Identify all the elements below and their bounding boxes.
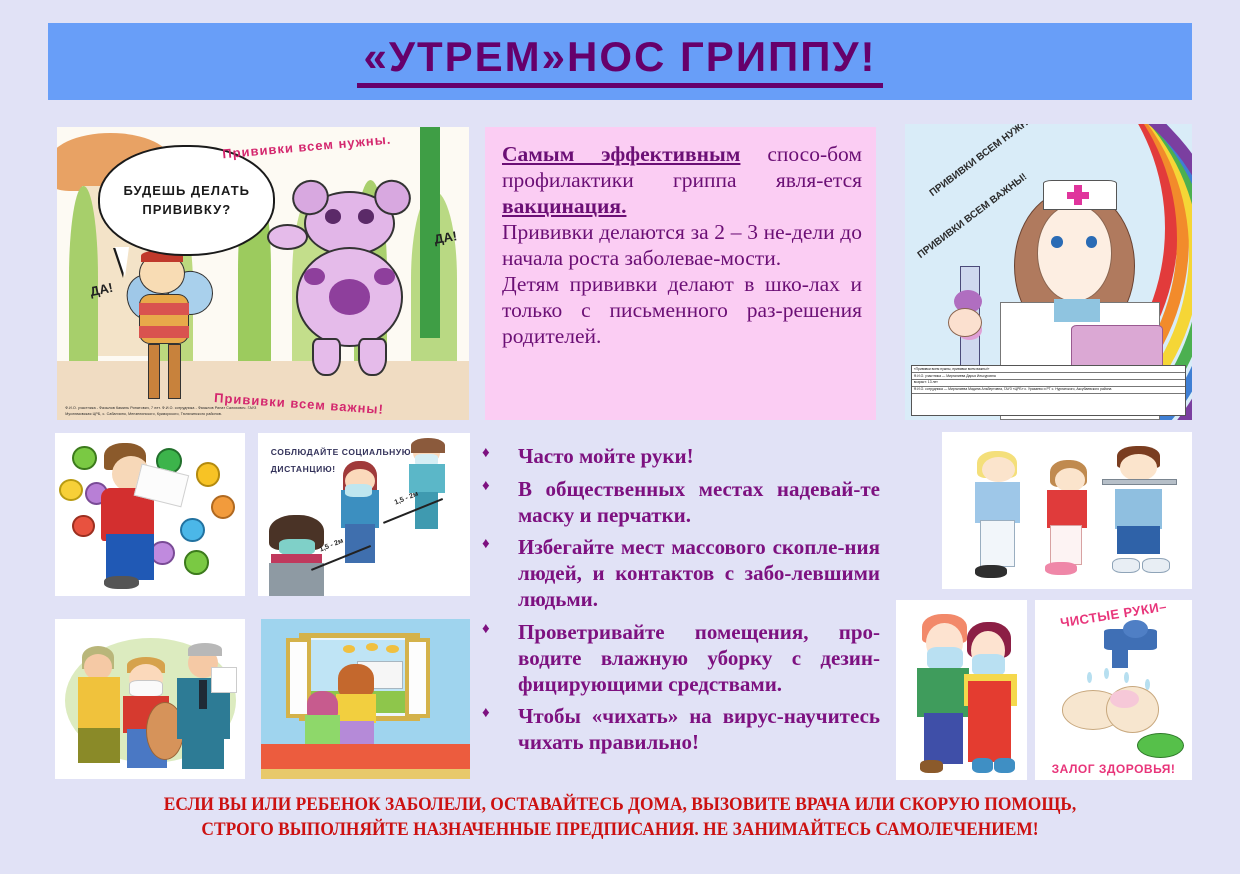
virus-icon: [211, 495, 236, 519]
face-mask: [129, 680, 163, 698]
virus-icon: [184, 550, 209, 574]
girl-shoe: [994, 758, 1015, 772]
drawing-info-table: «Прививки всем нужны, прививки всем важн…: [911, 365, 1187, 415]
vaccination-bold-2: вакцинация.: [502, 194, 626, 218]
bee-stripe: [139, 303, 188, 315]
vaccination-paragraph-3: Детям прививки делают в шко-лах и только…: [502, 271, 862, 349]
girl-tights: [980, 520, 1015, 567]
prevention-tips-list: Часто мойте руки! В общественных местах …: [476, 444, 880, 764]
man-shoe: [104, 576, 138, 589]
man-tie: [199, 680, 207, 709]
poster-root: «УТРЕМ»НОС ГРИППУ! БУДЕШЬ ДЕЛАТЬ ПРИВИВК…: [0, 0, 1240, 874]
info-row: Ф.И.О. участника — Миргалиева Дарья Ильс…: [912, 373, 1186, 380]
vaccination-paragraph-2: Прививки делаются за 2 – 3 не-дели до на…: [502, 219, 862, 271]
girl-shoe: [975, 565, 1008, 578]
boy-shirt: [1115, 489, 1163, 530]
tip-item: Часто мойте руки!: [476, 444, 880, 470]
girl-shoe: [972, 758, 993, 772]
bird-icon: [386, 645, 399, 653]
tip-item: В общественных местах надевай-те маску и…: [476, 477, 880, 529]
girl-leotard: [975, 482, 1020, 523]
man-hair: [188, 643, 222, 656]
children-masks-image: [896, 600, 1027, 780]
water-drop: [1087, 672, 1092, 683]
water-drop: [1104, 668, 1109, 679]
virus-icon: [72, 515, 95, 538]
water-drop: [1124, 672, 1129, 683]
clean-hands-bottom-text: ЗАЛОГ ЗДОРОВЬЯ!: [1035, 762, 1192, 776]
clean-hands-image: ЧИСТЫЕ РУКИ– ЗАЛОГ ЗДОРОВЬЯ!: [1035, 600, 1192, 780]
footer-line-1: ЕСЛИ ВЫ ИЛИ РЕБЕНОК ЗАБОЛЕЛИ, ОСТАВАЙТЕС…: [65, 793, 1174, 818]
bird-icon: [343, 645, 356, 653]
girl2-shoe: [1045, 562, 1078, 575]
woman-hair: [338, 664, 374, 696]
red-cross-horizontal: [1067, 192, 1089, 199]
tip-item: Избегайте мест массового скопле-ния люде…: [476, 535, 880, 612]
boy-sneaker: [1112, 558, 1140, 574]
boy-shirt: [917, 668, 969, 717]
title-banner: «УТРЕМ»НОС ГРИППУ!: [48, 23, 1192, 100]
bed-base: [261, 769, 470, 779]
coughing-family-image: [55, 619, 245, 779]
creature-eye: [358, 209, 374, 224]
creature-eye: [325, 209, 341, 224]
creature-belly-spot: [329, 279, 370, 314]
nurse-collar: [1054, 299, 1100, 323]
info-row: Ф.И.О. сотрудника — Миргалиева Мадина Ал…: [912, 387, 1186, 394]
girl2-tights: [1050, 525, 1083, 566]
woman-dress: [78, 677, 120, 731]
face-mask: [345, 484, 373, 497]
virus-icon: [72, 446, 97, 470]
girl2-face: [1055, 468, 1085, 492]
airing-room-image: [261, 619, 470, 779]
window-open-sash: [405, 638, 430, 718]
boy-shoe: [920, 760, 944, 773]
girl-face: [982, 457, 1015, 482]
creature-spot: [304, 268, 325, 286]
vaccination-text-box: Самым эффективным спосо-бом профилактики…: [485, 127, 876, 420]
tip-item: Проветривайте помещения, про-водите влаж…: [476, 620, 880, 697]
bird-icon: [366, 643, 379, 651]
woman-skirt: [78, 728, 120, 763]
boy-shorts: [1117, 526, 1160, 554]
woman-shirt: [336, 694, 376, 723]
boy-trousers: [924, 713, 963, 763]
creature-arm: [267, 224, 308, 250]
bee-leg: [148, 344, 160, 400]
bee-leg: [168, 344, 180, 400]
creature-leg: [312, 338, 341, 376]
barbell: [1102, 479, 1177, 485]
girl-overalls: [968, 681, 1011, 762]
face-mask: [927, 647, 962, 670]
info-row: «Прививки всем нужны, прививки всем важн…: [912, 366, 1186, 373]
vaccination-bold-1: Самым эффективным: [502, 142, 740, 166]
speech-bubble-tail: [115, 247, 129, 277]
virus-icon: [59, 479, 84, 502]
speech-bubble: БУДЕШЬ ДЕЛАТЬ ПРИВИВКУ?: [98, 145, 275, 256]
bee-vaccination-drawing: БУДЕШЬ ДЕЛАТЬ ПРИВИВКУ? Прививки всем ну…: [57, 127, 469, 420]
nurse-vaccination-drawing: ПРИВИВКИ ВСЕМ НУЖНЫ, ПРИВИВКИ ВСЕМ ВАЖНЫ…: [905, 124, 1192, 420]
soap-bar: [1137, 733, 1184, 758]
tissue: [211, 667, 238, 693]
footer-line-2: СТРОГО ВЫПОЛНЯЙТЕ НАЗНАЧЕННЫЕ ПРЕДПИСАНИ…: [65, 818, 1174, 843]
girl2-leotard: [1047, 490, 1087, 528]
soap-foam: [1110, 690, 1138, 708]
virus-icon: [180, 518, 205, 542]
footer-warning: ЕСЛИ ВЫ ИЛИ РЕБЕНОК ЗАБОЛЕЛИ, ОСТАВАЙТЕС…: [30, 793, 1210, 843]
vaccination-paragraph-1: Самым эффективным спосо-бом профилактики…: [502, 141, 862, 219]
tip-item: Чтобы «чихать» на вирус-научитесь чихать…: [476, 704, 880, 756]
grass-blade: [69, 186, 98, 368]
face-mask: [972, 654, 1005, 676]
faucet-handle: [1123, 620, 1148, 638]
sneezing-man-image: [55, 433, 245, 596]
boy-face: [1120, 454, 1158, 481]
virus-icon: [196, 462, 221, 486]
person-hair: [411, 438, 445, 453]
page-title: «УТРЕМ»НОС ГРИППУ!: [357, 35, 882, 87]
creature-spot: [374, 268, 395, 286]
person-body: [409, 464, 445, 493]
boy-sneaker: [1142, 558, 1170, 574]
yes-right-text: ДА!: [433, 228, 458, 247]
exercising-children-image: [942, 432, 1192, 589]
drawing-caption: Ф.И.О. участника - Фазылов Камиль Ринато…: [65, 406, 279, 417]
person-legs: [345, 524, 375, 563]
faucet-spout: [1112, 647, 1128, 669]
social-distance-image: СОБЛЮДАЙТЕ СОЦИАЛЬНУЮ ДИСТАНЦИЮ! 1,5 - 2…: [258, 433, 470, 596]
man-trousers: [106, 534, 154, 580]
bee-stripe: [139, 326, 188, 338]
creature-leg: [358, 338, 387, 376]
nurse-face: [1037, 204, 1112, 302]
info-row: возраст: 13 лет: [912, 380, 1186, 387]
man-trousers: [182, 736, 224, 770]
